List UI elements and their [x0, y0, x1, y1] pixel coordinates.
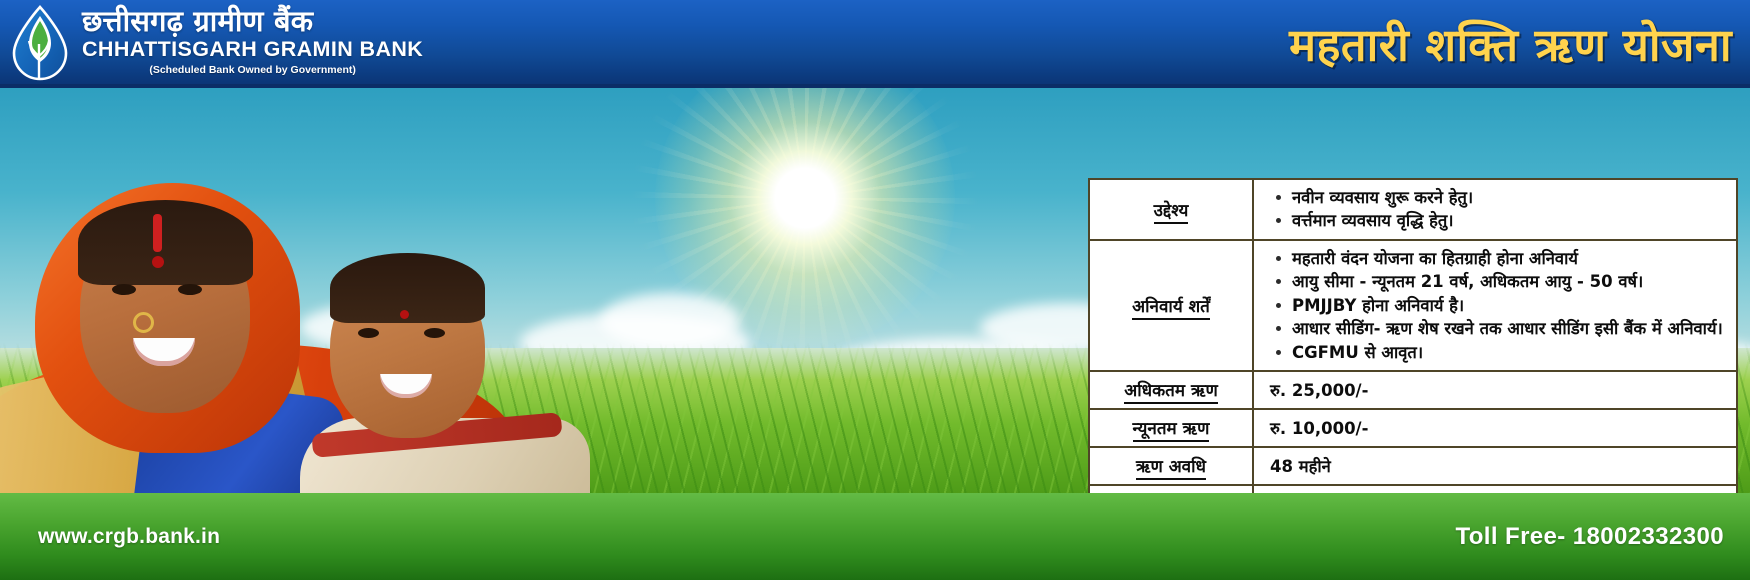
website-url[interactable]: www.crgb.bank.in	[38, 525, 220, 549]
row-label-maximum-loan: अधिकतम ऋण	[1089, 371, 1253, 409]
list-item: आधार सीडिंग- ऋण शेष रखने तक आधार सीडिंग …	[1290, 317, 1726, 340]
table-row: न्यूनतम ऋण रु. 10,000/-	[1089, 409, 1737, 447]
bank-branding: छत्तीसगढ़ ग्रामीण बैंक CHHATTISGARH GRAM…	[8, 4, 423, 82]
mother-hair	[78, 200, 253, 285]
bank-name-hindi: छत्तीसगढ़ ग्रामीण बैंक	[82, 6, 423, 36]
promotional-banner: छत्तीसगढ़ ग्रामीण बैंक CHHATTISGARH GRAM…	[0, 0, 1750, 580]
bindi-mark	[152, 256, 164, 268]
list-item: आयु सीमा - न्यूनतम 21 वर्ष, अधिकतम आयु -…	[1290, 270, 1726, 293]
row-value-minimum-loan: रु. 10,000/-	[1253, 409, 1737, 447]
child-bindi-mark	[400, 310, 409, 319]
row-value-loan-tenure: 48 महीने	[1253, 447, 1737, 485]
row-value-loan-category: सावधि ऋण	[1253, 485, 1737, 493]
bank-name-english: CHHATTISGARH GRAMIN BANK	[82, 37, 423, 62]
sindoor-mark	[153, 214, 162, 252]
conditions-bullet-list: महतारी वंदन योजना का हितग्राही होना अनिव…	[1270, 247, 1726, 364]
objective-bullet-list: नवीन व्यवसाय शुरू करने हेतु। वर्त्तमान व…	[1270, 186, 1726, 233]
child-eye-left	[358, 328, 379, 338]
table-row: अधिकतम ऋण रु. 25,000/-	[1089, 371, 1737, 409]
portrait-edge-fade	[450, 88, 640, 493]
table-row: अनिवार्य शर्तें महतारी वंदन योजना का हित…	[1089, 240, 1737, 371]
mother-and-child-photo	[0, 88, 640, 493]
row-value-objective: नवीन व्यवसाय शुरू करने हेतु। वर्त्तमान व…	[1253, 179, 1737, 240]
row-label-loan-category: ऋण श्रेणी	[1089, 485, 1253, 493]
row-label-mandatory-conditions: अनिवार्य शर्तें	[1089, 240, 1253, 371]
table-row: ऋण अवधि 48 महीने	[1089, 447, 1737, 485]
list-item: CGFMU से आवृत।	[1290, 341, 1726, 364]
banner-header: छत्तीसगढ़ ग्रामीण बैंक CHHATTISGARH GRAM…	[0, 0, 1750, 88]
table-row: ऋण श्रेणी सावधि ऋण	[1089, 485, 1737, 493]
list-item: PMJJBY होना अनिवार्य है।	[1290, 294, 1726, 317]
row-label-minimum-loan: न्यूनतम ऋण	[1089, 409, 1253, 447]
nose-ring	[133, 312, 154, 333]
row-value-mandatory-conditions: महतारी वंदन योजना का हितग्राही होना अनिव…	[1253, 240, 1737, 371]
banner-scene: उद्देश्य नवीन व्यवसाय शुरू करने हेतु। वर…	[0, 88, 1750, 493]
row-value-maximum-loan: रु. 25,000/-	[1253, 371, 1737, 409]
bank-name-block: छत्तीसगढ़ ग्रामीण बैंक CHHATTISGARH GRAM…	[82, 4, 423, 77]
mother-eye-right	[178, 284, 202, 295]
row-label-objective: उद्देश्य	[1089, 179, 1253, 240]
table-row: उद्देश्य नवीन व्यवसाय शुरू करने हेतु। वर…	[1089, 179, 1737, 240]
scheme-details-table: उद्देश्य नवीन व्यवसाय शुरू करने हेतु। वर…	[1088, 178, 1738, 493]
mother-eye-left	[112, 284, 136, 295]
list-item: नवीन व्यवसाय शुरू करने हेतु।	[1290, 186, 1726, 209]
scheme-title: महतारी शक्ति ऋण योजना	[1289, 14, 1732, 75]
list-item: महतारी वंदन योजना का हितग्राही होना अनिव…	[1290, 247, 1726, 270]
bank-subtitle: (Scheduled Bank Owned by Government)	[82, 64, 423, 77]
leaf-droplet-logo	[8, 4, 72, 82]
list-item: वर्त्तमान व्यवसाय वृद्धि हेतु।	[1290, 209, 1726, 232]
child-eye-right	[424, 328, 445, 338]
banner-footer: www.crgb.bank.in Toll Free- 18002332300	[0, 493, 1750, 580]
row-label-loan-tenure: ऋण अवधि	[1089, 447, 1253, 485]
toll-free-number[interactable]: Toll Free- 18002332300	[1455, 523, 1724, 551]
